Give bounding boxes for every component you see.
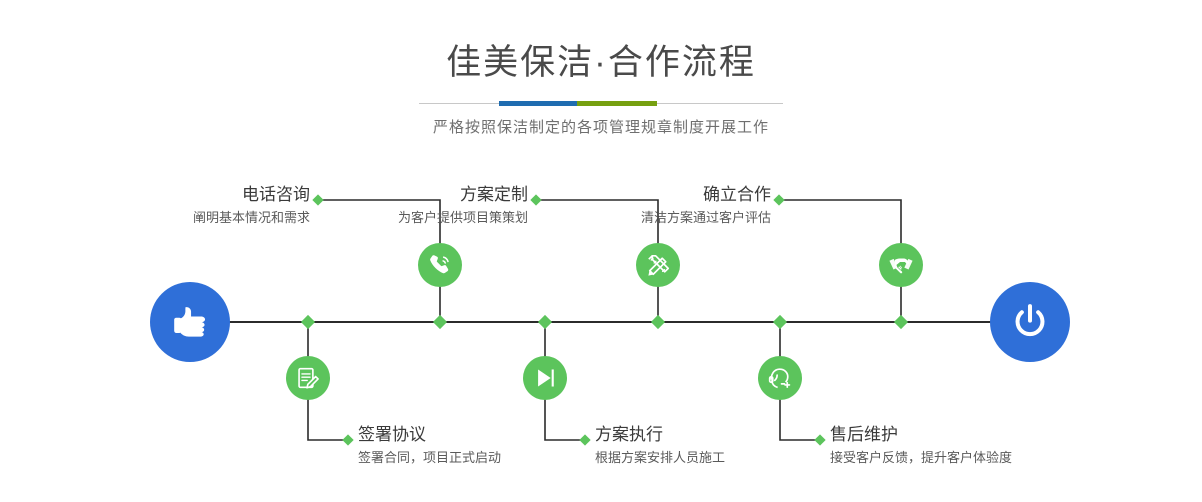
label-node-diamond — [773, 194, 784, 205]
step-desc: 为客户提供项目策策划 — [278, 208, 528, 227]
step-title: 方案定制 — [278, 184, 528, 206]
document-sign-icon — [295, 365, 321, 391]
step-label-top-2: 方案定制 为客户提供项目策策划 — [278, 184, 528, 227]
step-desc: 阐明基本情况和需求 — [60, 208, 310, 227]
step-label-top-1: 电话咨询 阐明基本情况和需求 — [60, 184, 310, 227]
end-node[interactable] — [990, 282, 1070, 362]
step-title: 售后维护 — [830, 424, 1160, 446]
step-icon-phone[interactable] — [418, 243, 462, 287]
step-label-bottom-3: 售后维护 接受客户反馈，提升客户体验度 — [830, 424, 1160, 467]
start-node[interactable] — [150, 282, 230, 362]
timeline-node-diamond — [773, 315, 787, 329]
power-button-icon — [1007, 299, 1053, 345]
timeline-node-diamond — [301, 315, 315, 329]
process-timeline: 电话咨询 阐明基本情况和需求 方案定制 为客户提供项目策策划 确立合作 清洁方案… — [0, 150, 1202, 502]
handshake-icon — [887, 251, 915, 279]
step-desc: 清洁方案通过客户评估 — [521, 208, 771, 227]
page-subtitle: 严格按照保洁制定的各项管理规章制度开展工作 — [0, 118, 1202, 138]
step-icon-cooperation[interactable] — [879, 243, 923, 287]
play-execute-icon — [532, 365, 558, 391]
step-desc: 接受客户反馈，提升客户体验度 — [830, 448, 1160, 467]
pointing-hand-icon — [167, 299, 213, 345]
step-title: 确立合作 — [521, 184, 771, 206]
timeline-node-diamond — [433, 315, 447, 329]
flow-diagram-page: 佳美保洁·合作流程 严格按照保洁制定的各项管理规章制度开展工作 — [0, 0, 1202, 502]
title-divider — [419, 100, 783, 108]
page-title: 佳美保洁·合作流程 — [0, 0, 1202, 84]
step-icon-agreement[interactable] — [286, 356, 330, 400]
headset-support-icon — [767, 365, 794, 392]
page-header: 佳美保洁·合作流程 严格按照保洁制定的各项管理规章制度开展工作 — [0, 0, 1202, 138]
label-node-diamond — [342, 434, 353, 445]
step-icon-plan[interactable] — [636, 243, 680, 287]
phone-call-icon — [427, 252, 453, 278]
timeline-node-diamond — [894, 315, 908, 329]
pencil-ruler-icon — [645, 252, 672, 279]
timeline-node-diamond — [651, 315, 665, 329]
divider-blue-segment — [499, 101, 577, 106]
step-title: 电话咨询 — [60, 184, 310, 206]
divider-green-segment — [577, 101, 657, 106]
timeline-node-diamond — [538, 315, 552, 329]
step-icon-execution[interactable] — [523, 356, 567, 400]
step-label-top-3: 确立合作 清洁方案通过客户评估 — [521, 184, 771, 227]
step-icon-aftersales[interactable] — [758, 356, 802, 400]
